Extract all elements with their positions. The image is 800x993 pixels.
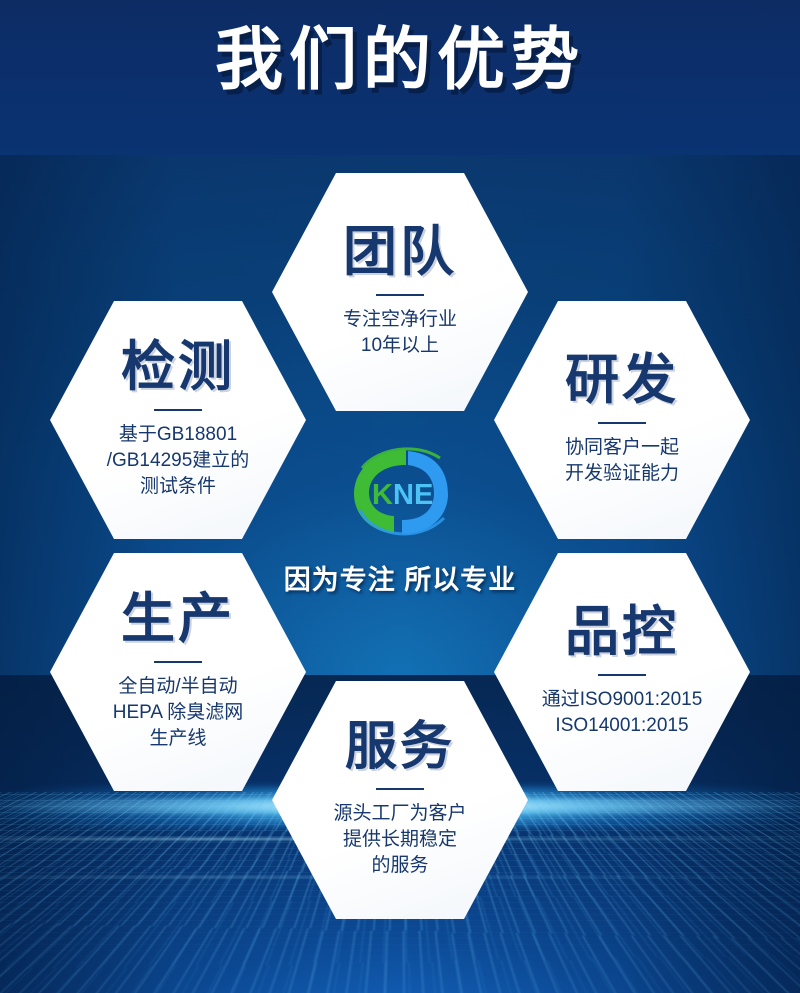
- hex-title: 团队: [343, 224, 457, 281]
- hex-description: 全自动/半自动 HEPA 除臭滤网 生产线: [113, 674, 244, 753]
- hex-title: 生产: [121, 591, 235, 648]
- logo-letter-k: K: [372, 479, 393, 511]
- hex-title: 品控: [565, 604, 679, 661]
- hex-divider: [376, 294, 424, 296]
- hex-title: 研发: [565, 352, 679, 409]
- hex-description: 协同客户一起 开发验证能力: [565, 435, 679, 487]
- hex-description: 通过ISO9001:2015 ISO14001:2015: [542, 687, 703, 739]
- center-brand-block: K NE 因为专注 所以专业: [270, 440, 530, 597]
- header-band: 我们的优势: [0, 0, 800, 155]
- hex-divider: [376, 788, 424, 790]
- hex-divider: [154, 409, 202, 411]
- page-title: 我们的优势: [0, 26, 800, 94]
- hex-divider: [598, 422, 646, 424]
- logo-letters-ne: NE: [393, 479, 433, 511]
- hex-title: 检测: [121, 339, 235, 396]
- kne-logo-icon: K NE: [346, 440, 454, 542]
- advantages-poster: 我们的优势 检测 基于GB18801 /GB14295建立的 测试条件 生产 全…: [0, 0, 800, 993]
- hex-description: 基于GB18801 /GB14295建立的 测试条件: [107, 422, 250, 501]
- hex-divider: [154, 661, 202, 663]
- hex-description: 源头工厂为客户 提供长期稳定 的服务: [333, 801, 466, 880]
- hex-divider: [598, 674, 646, 676]
- hex-description: 专注空净行业 10年以上: [343, 307, 457, 359]
- brand-tagline: 因为专注 所以专业: [284, 558, 517, 597]
- hex-title: 服务: [345, 720, 455, 775]
